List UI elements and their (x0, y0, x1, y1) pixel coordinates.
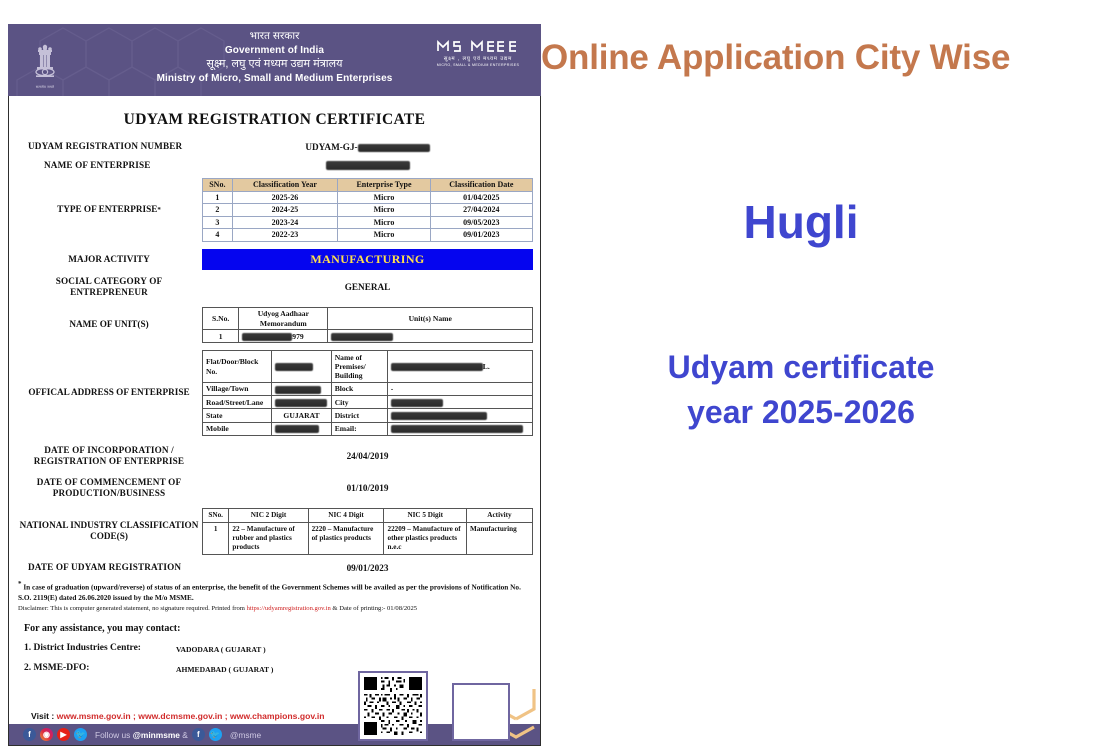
msme-logo: सूक्ष्म , लघु एवं मध्यम उद्यम MICRO, SMA… (434, 38, 522, 67)
msme-wordmark-icon (434, 38, 522, 53)
cell-nic2: 22 – Manufacture of rubber and plastics … (229, 522, 308, 554)
cell-nic5: 22209 – Manufacture of other plastics pr… (384, 522, 467, 554)
disclaimer-suffix: & Date of printing:- 01/08/2025 (331, 605, 417, 612)
units-table: S.No. Udyog Aadhaar Memorandum Unit(s) N… (202, 307, 533, 343)
table-row: 2 2024-25 Micro 27/04/2024 (203, 204, 533, 217)
cell-type: Micro (338, 191, 430, 204)
annotation-subtitle: Udyam certificate year 2025-2026 (541, 345, 1061, 436)
col-nic2: NIC 2 Digit (229, 508, 308, 522)
col-classification-year: Classification Year (232, 179, 338, 192)
annotation-panel: Online Application City Wise Hugli Udyam… (541, 0, 1116, 753)
nic-codes-row: NATIONAL INDUSTRY CLASSIFICATION CODE(S)… (16, 508, 533, 555)
cell-type: Micro (338, 229, 430, 242)
cell-year: 2022-23 (232, 229, 338, 242)
cell-type: Micro (338, 204, 430, 217)
addr-val-district (387, 409, 532, 422)
col-sno: S.No. (203, 307, 239, 329)
cell-year: 2023-24 (232, 216, 338, 229)
qr-code[interactable] (358, 671, 428, 741)
twitter-icon-2[interactable]: 🐦 (209, 728, 222, 741)
table-row: Road/Street/Lane City (203, 396, 533, 409)
instagram-icon[interactable]: ◉ (40, 728, 53, 741)
commencement-date-value: 01/10/2019 (202, 483, 533, 493)
ministry-english: Ministry of Micro, Small and Medium Ente… (8, 72, 541, 85)
addr-key-block: Block (331, 382, 387, 395)
addr-key-road: Road/Street/Lane (203, 396, 272, 409)
redacted-mobile (275, 425, 319, 433)
table-header-row: SNo. NIC 2 Digit NIC 4 Digit NIC 5 Digit… (203, 508, 533, 522)
incorporation-date-label: DATE OF INCORPORATION / REGISTRATION OF … (16, 445, 202, 468)
addr-key-flat: Flat/Door/Block No. (203, 351, 272, 382)
cell-nic-sno: 1 (203, 522, 229, 554)
table-row: Flat/Door/Block No. Name of Premises/ Bu… (203, 351, 533, 382)
major-activity-row: MAJOR ACTIVITY MANUFACTURING (16, 249, 533, 270)
addr-premises-suffix: L. (483, 362, 490, 371)
table-row: 1 22 – Manufacture of rubber and plastic… (203, 522, 533, 554)
table-header-row: SNo. Classification Year Enterprise Type… (203, 179, 533, 192)
nic-table: SNo. NIC 2 Digit NIC 4 Digit NIC 5 Digit… (202, 508, 533, 555)
enterprise-name-label: NAME OF ENTERPRISE (16, 160, 202, 172)
incorporation-date-value: 24/04/2019 (202, 451, 533, 461)
enterprise-type-row: TYPE OF ENTERPRISE* SNo. Classification … (16, 178, 533, 242)
addr-key-mobile: Mobile (203, 422, 272, 435)
redacted-premises (391, 363, 483, 371)
cell-sno: 2 (203, 204, 233, 217)
udyam-certificate-image: सत्यमेव जयते भारत सरकार Government of In… (8, 24, 541, 746)
annotation-subtitle-line1: Udyam certificate (541, 345, 1061, 390)
table-row: State GUJARAT District (203, 409, 533, 422)
enterprise-name-value (202, 160, 533, 170)
table-row: 1 2025-26 Micro 01/04/2025 (203, 191, 533, 204)
assistance-heading: For any assistance, you may contact: (16, 623, 533, 634)
address-label: OFFICAL ADDRESS OF ENTERPRISE (16, 350, 202, 435)
address-table: Flat/Door/Block No. Name of Premises/ Bu… (202, 350, 533, 435)
col-nic5: NIC 5 Digit (384, 508, 467, 522)
col-nic-sno: SNo. (203, 508, 229, 522)
table-row: 1 979 (203, 330, 533, 343)
cell-sno: 3 (203, 216, 233, 229)
facebook-icon[interactable]: f (23, 728, 36, 741)
msme-logo-hindi: सूक्ष्म , लघु एवं मध्यम उद्यम (434, 54, 522, 62)
cell-unit-name (328, 330, 533, 343)
registration-number-value: UDYAM-GJ- (202, 142, 533, 152)
registration-number-label: UDYAM REGISTRATION NUMBER (16, 141, 202, 153)
enterprise-type-table: SNo. Classification Year Enterprise Type… (202, 178, 533, 242)
enterprise-type-label: TYPE OF ENTERPRISE* (16, 178, 202, 242)
addr-key-district: District (331, 409, 387, 422)
table-row: Mobile Email: (203, 422, 533, 435)
col-nic4: NIC 4 Digit (308, 508, 384, 522)
addr-val-flat (272, 351, 331, 382)
social-category-label: SOCIAL CATEGORY OF ENTREPRENEUR (16, 276, 202, 299)
redacted-registration-number (358, 144, 430, 152)
annotation-city: Hugli (541, 195, 1061, 249)
cell-year: 2025-26 (232, 191, 338, 204)
visit-prefix: Visit : (31, 711, 57, 721)
table-row: Village/Town Block - (203, 382, 533, 395)
name-of-units-label: NAME OF UNIT(S) (16, 307, 202, 343)
cell-year: 2024-25 (232, 204, 338, 217)
twitter-icon[interactable]: 🐦 (74, 728, 87, 741)
udyam-registration-date-row: DATE OF UDYAM REGISTRATION 09/01/2023 (16, 562, 533, 574)
annotation-subtitle-line2: year 2025-2026 (541, 390, 1061, 435)
addr-key-premises: Name of Premises/ Building (331, 351, 387, 382)
handle-minmsme: @minmsme (133, 730, 180, 740)
enterprise-type-label-text: TYPE OF ENTERPRISE (57, 204, 157, 216)
table-row: 3 2023-24 Micro 09/05/2023 (203, 216, 533, 229)
udyam-registration-date-label: DATE OF UDYAM REGISTRATION (16, 562, 202, 574)
handle-msme: @msme (230, 730, 261, 740)
col-classification-date: Classification Date (430, 179, 532, 192)
registration-number-row: UDYAM REGISTRATION NUMBER UDYAM-GJ- (16, 141, 533, 153)
nic-codes-label: NATIONAL INDUSTRY CLASSIFICATION CODE(S) (16, 508, 202, 555)
redacted-road (275, 399, 327, 407)
cell-uam-suffix: 979 (292, 332, 303, 341)
contact-dfo-value: AHMEDABAD ( GUJARAT ) (176, 663, 273, 674)
udyam-registration-date-value: 09/01/2023 (202, 563, 533, 573)
msme-logo-english: MICRO, SMALL & MEDIUM ENTERPRISES (434, 63, 522, 67)
cell-nic4: 2220 – Manufacture of plastics products (308, 522, 384, 554)
cell-date: 27/04/2024 (430, 204, 532, 217)
redacted-district (391, 412, 487, 420)
major-activity-banner: MANUFACTURING (202, 249, 533, 270)
facebook-icon-2[interactable]: f (192, 728, 205, 741)
social-category-row: SOCIAL CATEGORY OF ENTREPRENEUR GENERAL (16, 276, 533, 299)
commencement-date-label: DATE OF COMMENCEMENT OF PRODUCTION/BUSIN… (16, 477, 202, 500)
footnote-star: * (157, 206, 161, 215)
cell-date: 01/04/2025 (430, 191, 532, 204)
address-row: OFFICAL ADDRESS OF ENTERPRISE Flat/Door/… (16, 350, 533, 435)
col-enterprise-type: Enterprise Type (338, 179, 430, 192)
cell-sno: 1 (203, 191, 233, 204)
certificate-footer: Visit : www.msme.gov.in ; www.dcmsme.gov… (9, 708, 540, 745)
addr-key-village: Village/Town (203, 382, 272, 395)
social-category-value: GENERAL (202, 282, 533, 292)
addr-val-city (387, 396, 532, 409)
cell-type: Micro (338, 216, 430, 229)
col-nic-activity: Activity (466, 508, 532, 522)
redacted-enterprise-name (326, 161, 410, 170)
table-header-row: S.No. Udyog Aadhaar Memorandum Unit(s) N… (203, 307, 533, 329)
annotation-title: Online Application City Wise (541, 38, 1116, 78)
addr-val-mobile (272, 422, 331, 435)
cell-sno: 4 (203, 229, 233, 242)
cell-date: 09/05/2023 (430, 216, 532, 229)
contact-dfo-label: 2. MSME-DFO: (24, 663, 176, 674)
cell-nic-activity: Manufacturing (466, 522, 532, 554)
col-unit-name: Unit(s) Name (328, 307, 533, 329)
addr-key-email: Email: (331, 422, 387, 435)
graduation-footnote: * In case of graduation (upward/reverse)… (16, 580, 533, 602)
contact-dic-value: VADODARA ( GUJARAT ) (176, 643, 266, 654)
table-row: 4 2022-23 Micro 09/01/2023 (203, 229, 533, 242)
addr-val-block: - (387, 382, 532, 395)
enterprise-name-row: NAME OF ENTERPRISE (16, 160, 533, 172)
commencement-date-row: DATE OF COMMENCEMENT OF PRODUCTION/BUSIN… (16, 477, 533, 500)
footer-white-box (452, 683, 510, 741)
addr-val-email (387, 422, 532, 435)
redacted-unit-name (331, 333, 393, 341)
footnote-text: In case of graduation (upward/reverse) o… (18, 583, 521, 602)
redacted-village (275, 386, 321, 394)
name-of-units-row: NAME OF UNIT(S) S.No. Udyog Aadhaar Memo… (16, 307, 533, 343)
contact-dic-label: 1. District Industries Centre: (24, 643, 176, 654)
certificate-title: UDYAM REGISTRATION CERTIFICATE (16, 111, 533, 129)
registration-number-prefix: UDYAM-GJ- (305, 142, 357, 152)
addr-val-premises: L. (387, 351, 532, 382)
ampersand: & (180, 730, 188, 740)
redacted-uam (242, 333, 292, 341)
disclaimer-text: Disclaimer: This is computer generated s… (16, 605, 533, 614)
addr-val-village (272, 382, 331, 395)
redacted-flat (275, 363, 313, 371)
redacted-email (391, 425, 523, 433)
addr-val-state: GUJARAT (272, 409, 331, 422)
cell-uam: 979 (239, 330, 328, 343)
col-sno: SNo. (203, 179, 233, 192)
certificate-body: UDYAM REGISTRATION CERTIFICATE UDYAM REG… (8, 96, 541, 746)
redacted-city (391, 399, 443, 407)
col-uam: Udyog Aadhaar Memorandum (239, 307, 328, 329)
footnote-star-marker: * (18, 580, 22, 588)
follow-us-text: Follow us @minmsme & (95, 730, 188, 740)
addr-key-city: City (331, 396, 387, 409)
addr-key-state: State (203, 409, 272, 422)
addr-val-road (272, 396, 331, 409)
youtube-icon[interactable]: ▶ (57, 728, 70, 741)
follow-label: Follow us (95, 730, 133, 740)
incorporation-date-row: DATE OF INCORPORATION / REGISTRATION OF … (16, 445, 533, 468)
cell-date: 09/01/2023 (430, 229, 532, 242)
udyam-portal-link[interactable]: https://udyamregistration.gov.in (247, 605, 331, 612)
cell-sno: 1 (203, 330, 239, 343)
major-activity-label: MAJOR ACTIVITY (16, 249, 202, 270)
contact-dic: 1. District Industries Centre: VADODARA … (16, 643, 533, 654)
disclaimer-prefix: Disclaimer: This is computer generated s… (18, 605, 247, 612)
contact-dfo: 2. MSME-DFO: AHMEDABAD ( GUJARAT ) (16, 663, 533, 674)
certificate-header: सत्यमेव जयते भारत सरकार Government of In… (8, 24, 541, 96)
visit-links[interactable]: www.msme.gov.in ; www.dcmsme.gov.in ; ww… (57, 711, 325, 721)
